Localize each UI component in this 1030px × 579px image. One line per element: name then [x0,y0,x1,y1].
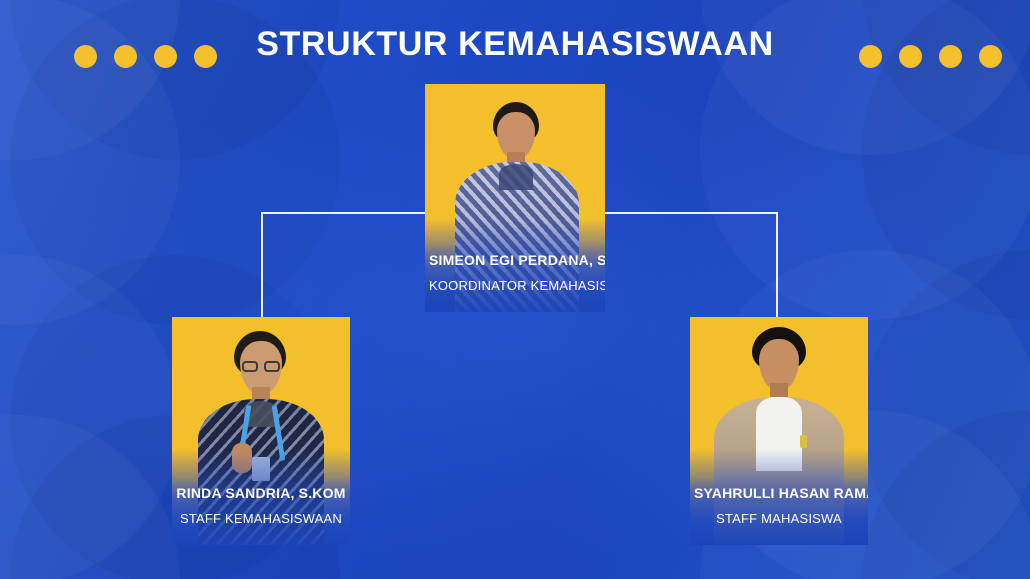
person-name: RINDA SANDRIA, S.KOM [176,485,346,502]
petal-shape [862,250,1030,579]
petal-shape [0,415,180,579]
connector-vertical-left [261,212,263,318]
dot-icon [979,45,1002,68]
dot-icon [859,45,882,68]
dot-icon [899,45,922,68]
dot-icon [74,45,97,68]
org-card-right[interactable]: SYAHRULLI HASAN RAMADHAN STAFF MAHASISWA [690,317,868,545]
person-role: STAFF MAHASISWA [694,511,864,527]
org-card-root[interactable]: SIMEON EGI PERDANA, S.H., M.M KOORDINATO… [425,84,605,312]
dot-icon [154,45,177,68]
petal-shape [862,410,1030,579]
slide-canvas: STRUKTUR KEMAHASISWAAN SIMEON EGI PERDA [0,0,1030,579]
card-labels-right: SYAHRULLI HASAN RAMADHAN STAFF MAHASISWA [690,485,868,545]
glasses-icon [242,361,258,372]
org-card-left[interactable]: RINDA SANDRIA, S.KOM STAFF KEMAHASISWAAN [172,317,350,545]
collar-shape [499,164,533,190]
decorative-dots-left [74,45,217,68]
person-name: SYAHRULLI HASAN RAMADHAN [694,485,864,502]
glasses-icon [264,361,280,372]
dot-icon [194,45,217,68]
dot-icon [114,45,137,68]
person-name: SIMEON EGI PERDANA, S.H., M.M [429,252,601,269]
card-labels-left: RINDA SANDRIA, S.KOM STAFF KEMAHASISWAAN [172,485,350,545]
decorative-dots-right [859,45,1002,68]
dot-icon [939,45,962,68]
person-role: STAFF KEMAHASISWAAN [176,511,346,527]
person-role: KOORDINATOR KEMAHASISWAAN [429,278,601,294]
blazer-pin-icon [800,435,807,448]
connector-vertical-right [776,212,778,318]
petal-shape [0,255,180,579]
card-labels-root: SIMEON EGI PERDANA, S.H., M.M KOORDINATO… [425,252,605,312]
